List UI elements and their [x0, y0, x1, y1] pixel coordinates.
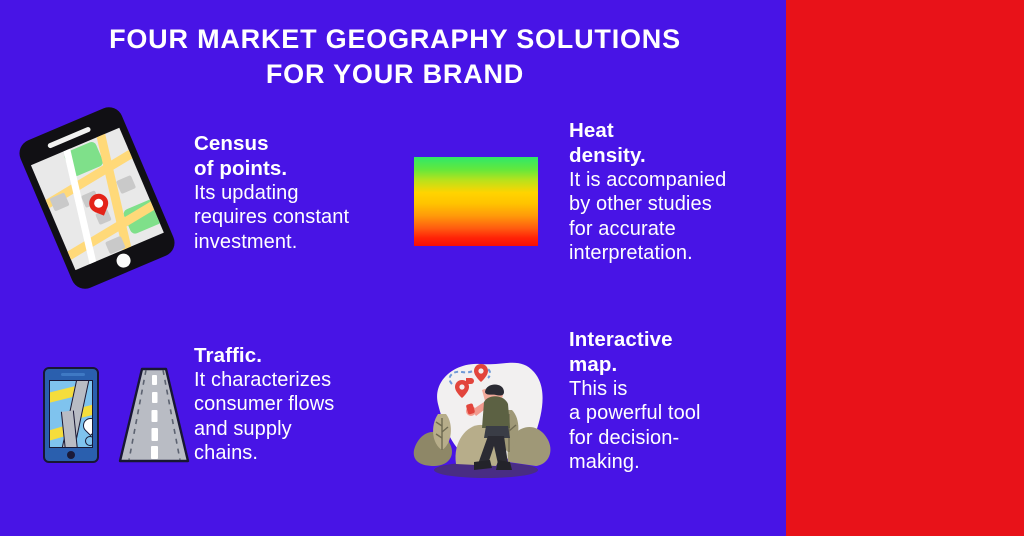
map-pin-icon [80, 415, 93, 436]
heat-gradient-icon [414, 157, 538, 246]
traffic-heading-1: Traffic. [194, 343, 394, 368]
phone-notch [61, 373, 85, 376]
census-heading-1: Census [194, 131, 399, 156]
census-body-3: investment. [194, 230, 399, 254]
brand-panel: Source: Staff (2025) Acertiva acertiva [786, 0, 1024, 536]
traffic-body-2: consumer flows [194, 392, 394, 416]
title-line-1: FOUR MARKET GEOGRAPHY SOLUTIONS [60, 22, 730, 57]
navigation-phone-icon [43, 367, 99, 463]
infographic-canvas: FOUR MARKET GEOGRAPHY SOLUTIONS FOR YOUR… [0, 0, 1024, 536]
heat-body-4: interpretation. [569, 241, 779, 265]
title-line-2: FOR YOUR BRAND [60, 57, 730, 92]
solution-interactive-map: Interactive map. This is a powerful tool… [569, 327, 774, 475]
interactive-body-4: making. [569, 450, 774, 474]
traffic-body-1: It characterizes [194, 368, 394, 392]
solution-traffic: Traffic. It characterizes consumer flows… [194, 343, 394, 466]
census-heading-2: of points. [194, 156, 399, 181]
road-perspective-icon [118, 367, 190, 463]
smartphone-map-icon [15, 103, 179, 293]
page-title: FOUR MARKET GEOGRAPHY SOLUTIONS FOR YOUR… [60, 22, 730, 91]
traffic-body-3: and supply [194, 417, 394, 441]
census-body-2: requires constant [194, 205, 399, 229]
navigation-screen [49, 380, 93, 448]
heat-body-2: by other studies [569, 192, 779, 216]
heat-body-3: for accurate [569, 217, 779, 241]
heat-heading-1: Heat [569, 118, 779, 143]
heat-body-1: It is accompanied [569, 168, 779, 192]
interactive-body-1: This is [569, 377, 774, 401]
person-walking-map-icon [412, 352, 560, 488]
interactive-heading-2: map. [569, 352, 774, 377]
main-panel: FOUR MARKET GEOGRAPHY SOLUTIONS FOR YOUR… [0, 0, 786, 536]
phone-home-button [67, 451, 75, 459]
census-body-1: Its updating [194, 181, 399, 205]
map-block [116, 175, 136, 194]
interactive-heading-1: Interactive [569, 327, 774, 352]
heat-heading-2: density. [569, 143, 779, 168]
traffic-body-4: chains. [194, 441, 394, 465]
map-dot-icon [85, 436, 93, 446]
interactive-body-3: for decision- [569, 426, 774, 450]
solution-census: Census of points. Its updating requires … [194, 131, 399, 254]
solution-heat-density: Heat density. It is accompanied by other… [569, 118, 779, 266]
interactive-body-2: a powerful tool [569, 401, 774, 425]
